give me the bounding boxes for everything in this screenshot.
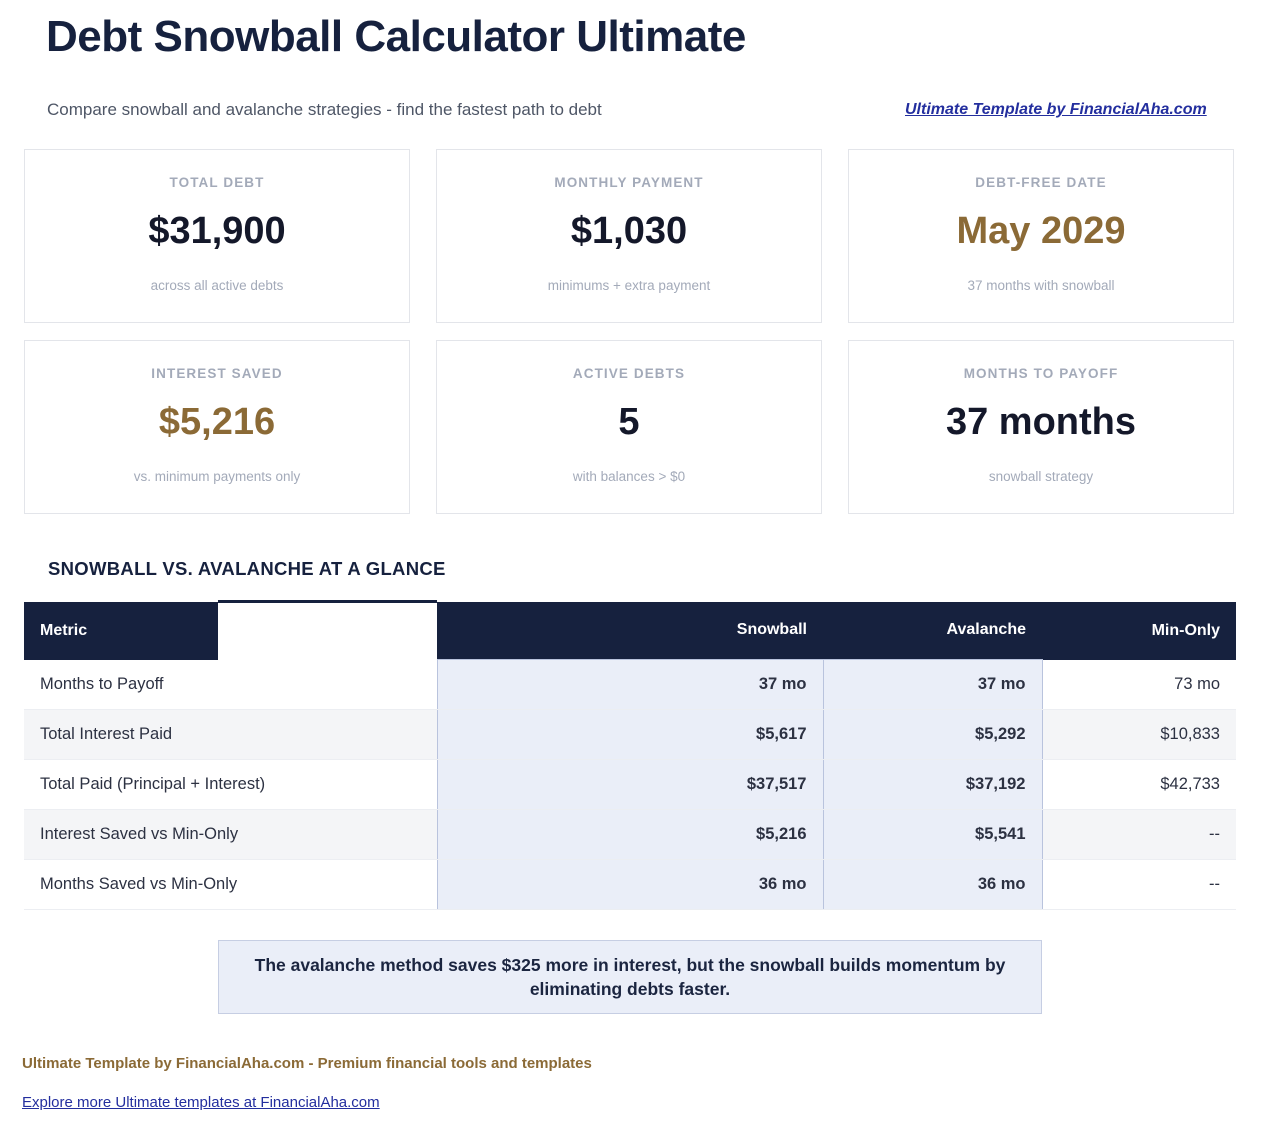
table-row: Total Interest Paid $5,617 $5,292 $10,83… [24, 710, 1236, 760]
calculator-page: Debt Snowball Calculator Ultimate Compar… [0, 0, 1282, 1132]
stat-card-label: INTEREST SAVED [151, 366, 282, 381]
stat-card-sublabel: vs. minimum payments only [134, 469, 301, 484]
row-value-snowball: 37 mo [437, 660, 823, 710]
row-value-avalanche: $5,292 [823, 710, 1042, 760]
row-value-min-only: 73 mo [1042, 660, 1236, 710]
row-metric-label: Total Interest Paid [24, 710, 437, 760]
column-header-snowball: Snowball [437, 602, 823, 660]
stat-card-value: $31,900 [148, 212, 285, 252]
insight-callout-text: The avalanche method saves $325 more in … [245, 953, 1015, 1001]
row-value-snowball: $37,517 [437, 760, 823, 810]
stat-card-row-1: TOTAL DEBT $31,900 across all active deb… [24, 149, 1262, 323]
stat-card-sublabel: across all active debts [151, 278, 284, 293]
table-header-row: Metric Snowball Avalanche Min-Only [24, 602, 1236, 660]
stat-card-label: MONTHS TO PAYOFF [964, 366, 1119, 381]
stat-card-interest-saved: INTEREST SAVED $5,216 vs. minimum paymen… [24, 340, 410, 514]
brand-template-link[interactable]: Ultimate Template by FinancialAha.com [905, 101, 1207, 119]
stat-card-label: TOTAL DEBT [170, 175, 265, 190]
row-value-min-only: $42,733 [1042, 760, 1236, 810]
insight-callout: The avalanche method saves $325 more in … [218, 940, 1042, 1014]
row-value-snowball: $5,216 [437, 810, 823, 860]
footer-explore-link[interactable]: Explore more Ultimate templates at Finan… [22, 1094, 380, 1111]
comparison-table-body: Months to Payoff 37 mo 37 mo 73 mo Total… [24, 660, 1236, 910]
stat-card-label: ACTIVE DEBTS [573, 366, 685, 381]
row-metric-label: Months to Payoff [24, 660, 437, 710]
stat-card-active-debts: ACTIVE DEBTS 5 with balances > $0 [436, 340, 822, 514]
column-header-spacer [218, 602, 437, 660]
table-row: Months to Payoff 37 mo 37 mo 73 mo [24, 660, 1236, 710]
stat-card-sublabel: 37 months with snowball [967, 278, 1114, 293]
stat-card-row-2: INTEREST SAVED $5,216 vs. minimum paymen… [24, 340, 1262, 514]
row-value-avalanche: $5,541 [823, 810, 1042, 860]
comparison-section-title: SNOWBALL VS. AVALANCHE AT A GLANCE [48, 558, 446, 580]
page-subtitle: Compare snowball and avalanche strategie… [47, 100, 602, 120]
row-value-snowball: $5,617 [437, 710, 823, 760]
stat-card-value: $5,216 [159, 403, 275, 443]
comparison-table-wrapper: Metric Snowball Avalanche Min-Only Month… [24, 600, 1262, 910]
row-value-avalanche: $37,192 [823, 760, 1042, 810]
stat-card-sublabel: snowball strategy [989, 469, 1093, 484]
row-value-avalanche: 36 mo [823, 860, 1042, 910]
row-metric-label: Interest Saved vs Min-Only [24, 810, 437, 860]
row-value-min-only: $10,833 [1042, 710, 1236, 760]
row-value-min-only: -- [1042, 810, 1236, 860]
page-title: Debt Snowball Calculator Ultimate [46, 12, 746, 62]
comparison-table-head: Metric Snowball Avalanche Min-Only [24, 602, 1236, 660]
stat-card-total-debt: TOTAL DEBT $31,900 across all active deb… [24, 149, 410, 323]
row-metric-label: Months Saved vs Min-Only [24, 860, 437, 910]
stat-card-monthly-payment: MONTHLY PAYMENT $1,030 minimums + extra … [436, 149, 822, 323]
column-header-avalanche: Avalanche [823, 602, 1042, 660]
table-row: Total Paid (Principal + Interest) $37,51… [24, 760, 1236, 810]
table-row: Interest Saved vs Min-Only $5,216 $5,541… [24, 810, 1236, 860]
stat-card-sublabel: with balances > $0 [573, 469, 685, 484]
footer-note: Ultimate Template by FinancialAha.com - … [22, 1055, 592, 1072]
stat-card-sublabel: minimums + extra payment [548, 278, 710, 293]
stat-card-label: DEBT-FREE DATE [975, 175, 1106, 190]
column-header-metric: Metric [24, 602, 218, 660]
table-row: Months Saved vs Min-Only 36 mo 36 mo -- [24, 860, 1236, 910]
comparison-table: Metric Snowball Avalanche Min-Only Month… [24, 600, 1236, 910]
stat-card-value: May 2029 [956, 212, 1125, 252]
row-value-avalanche: 37 mo [823, 660, 1042, 710]
stat-card-value: 5 [618, 403, 639, 443]
stat-card-debt-free-date: DEBT-FREE DATE May 2029 37 months with s… [848, 149, 1234, 323]
row-value-snowball: 36 mo [437, 860, 823, 910]
stat-card-months-to-payoff: MONTHS TO PAYOFF 37 months snowball stra… [848, 340, 1234, 514]
column-header-min-only: Min-Only [1042, 602, 1236, 660]
row-value-min-only: -- [1042, 860, 1236, 910]
stat-card-grid: TOTAL DEBT $31,900 across all active deb… [24, 149, 1262, 531]
row-metric-label: Total Paid (Principal + Interest) [24, 760, 437, 810]
stat-card-value: 37 months [946, 403, 1136, 443]
stat-card-value: $1,030 [571, 212, 687, 252]
stat-card-label: MONTHLY PAYMENT [554, 175, 703, 190]
